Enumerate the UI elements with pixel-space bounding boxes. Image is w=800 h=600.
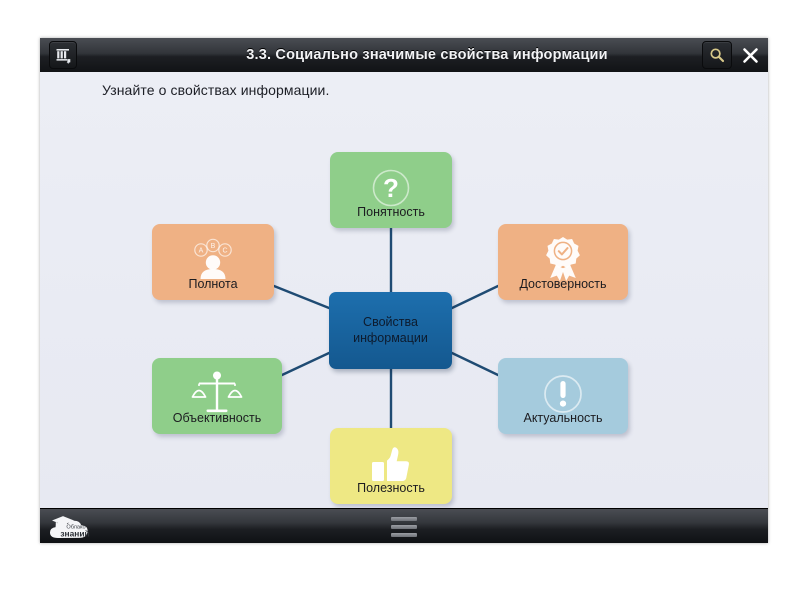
question-mark-circle-icon: ? [330,162,452,214]
svg-text:C: C [222,248,227,255]
connector-center-aktualnost [452,353,498,375]
content-area: Узнайте о свойствах информации. [40,72,768,509]
connector-center-polnota [274,286,329,308]
menu-bar-3 [391,533,417,537]
menu-bar-2 [391,525,417,529]
book-shelf-icon[interactable] [49,41,77,69]
title-bar-left [40,41,86,69]
thumbs-up-icon [330,438,452,490]
bottom-bar: Облако знаний [40,508,768,543]
title-bar-controls [702,38,764,72]
center-label-line2: информации [353,331,428,347]
balance-scales-icon [152,368,282,420]
exclamation-circle-icon [498,368,628,420]
magnifier-icon[interactable] [702,41,732,69]
menu-bar-1 [391,517,417,521]
properties-diagram: ? Понятность A B [40,72,768,509]
node-center-properties[interactable]: Свойства информации [329,292,452,369]
svg-text:B: B [211,243,216,250]
svg-text:?: ? [383,173,399,203]
node-poleznost[interactable]: Полезность [330,428,452,504]
node-ponyatnost[interactable]: ? Понятность [330,152,452,228]
award-ribbon-check-icon [498,234,628,286]
cloud-graduation-cap-icon[interactable]: Облако знаний [44,511,104,541]
node-obyektivnost[interactable]: Объективность [152,358,282,434]
window-title: 3.3. Социально значимые свойства информа… [86,47,768,63]
center-label-line1: Свойства [363,315,418,331]
close-icon[interactable] [736,42,764,68]
app-window: 3.3. Социально значимые свойства информа… [40,38,768,543]
node-polnota[interactable]: A B C Полнота [152,224,274,300]
connector-center-obyektivnost [282,353,329,375]
hamburger-menu-icon[interactable] [387,513,421,540]
title-bar: 3.3. Социально значимые свойства информа… [40,38,768,73]
node-dostovernost[interactable]: Достоверность [498,224,628,300]
connector-center-dostovernost [452,286,498,308]
person-abc-icon: A B C [152,234,274,286]
brand-line2: знаний [60,528,89,538]
node-aktualnost[interactable]: Актуальность [498,358,628,434]
svg-text:A: A [199,248,204,255]
